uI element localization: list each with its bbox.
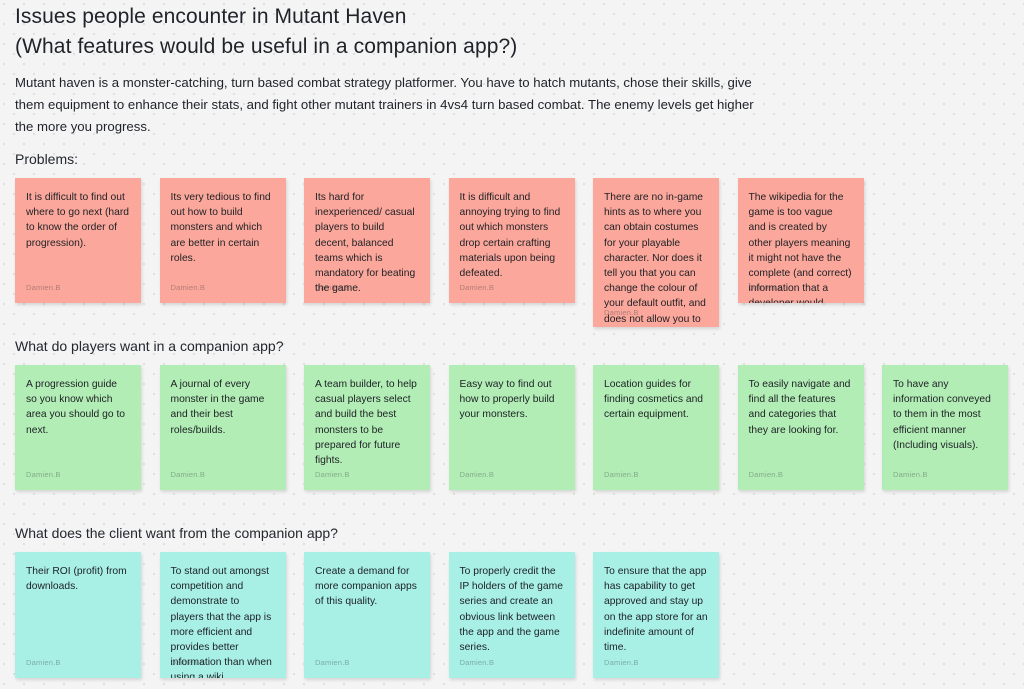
sticky-note-text: Its very tedious to find out how to buil…	[171, 190, 275, 266]
sticky-note[interactable]: It is difficult to find out where to go …	[15, 178, 141, 303]
sticky-note-text: To properly credit the IP holders of the…	[460, 564, 564, 655]
sticky-note-text: Location guides for finding cosmetics an…	[604, 377, 708, 423]
sticky-note[interactable]: A team builder, to help casual players s…	[304, 365, 430, 490]
sticky-note-author: Damien.B	[893, 470, 928, 480]
sticky-note-author: Damien.B	[604, 658, 639, 668]
sticky-note-text: It is difficult and annoying trying to f…	[460, 190, 564, 281]
sticky-note-text: Create a demand for more companion apps …	[315, 564, 419, 610]
sticky-note-author: Damien.B	[604, 308, 639, 318]
sticky-note[interactable]: Their ROI (profit) from downloads.Damien…	[15, 552, 141, 678]
sticky-note-author: Damien.B	[315, 658, 350, 668]
sticky-note-text: To ensure that the app has capability to…	[604, 564, 708, 655]
sticky-note[interactable]: Easy way to find out how to properly bui…	[449, 365, 575, 490]
sticky-note[interactable]: The wikipedia for the game is too vague …	[738, 178, 864, 303]
board-title: Issues people encounter in Mutant Haven …	[15, 2, 975, 62]
sticky-note[interactable]: To easily navigate and find all the feat…	[738, 365, 864, 490]
sticky-note-text: Their ROI (profit) from downloads.	[26, 564, 130, 594]
sticky-note[interactable]: To stand out amongst competition and dem…	[160, 552, 286, 678]
sticky-note-author: Damien.B	[315, 470, 350, 480]
section-heading-problems: Problems:	[15, 150, 78, 168]
sticky-note-text: It is difficult to find out where to go …	[26, 190, 130, 251]
sticky-note-author: Damien.B	[171, 658, 206, 668]
sticky-note[interactable]: It is difficult and annoying trying to f…	[449, 178, 575, 303]
board-title-line-1: Issues people encounter in Mutant Haven	[15, 2, 975, 32]
board-intro-paragraph: Mutant haven is a monster-catching, turn…	[15, 72, 757, 138]
sticky-note[interactable]: Create a demand for more companion apps …	[304, 552, 430, 678]
sticky-note-author: Damien.B	[26, 658, 61, 668]
sticky-note[interactable]: There are no in-game hints as to where y…	[593, 178, 719, 327]
board-title-line-2: (What features would be useful in a comp…	[15, 32, 975, 62]
sticky-note[interactable]: A progression guide so you know which ar…	[15, 365, 141, 490]
sticky-note[interactable]: To properly credit the IP holders of the…	[449, 552, 575, 678]
sticky-note[interactable]: Location guides for finding cosmetics an…	[593, 365, 719, 490]
sticky-note-text: A journal of every monster in the game a…	[171, 377, 275, 438]
section-heading-client: What does the client want from the compa…	[15, 524, 338, 542]
sticky-note-author: Damien.B	[315, 283, 350, 293]
sticky-note[interactable]: A journal of every monster in the game a…	[160, 365, 286, 490]
sticky-note-author: Damien.B	[171, 283, 206, 293]
sticky-note-author: Damien.B	[460, 470, 495, 480]
sticky-note-author: Damien.B	[171, 470, 206, 480]
sticky-note-text: There are no in-game hints as to where y…	[604, 190, 708, 327]
whiteboard-canvas[interactable]: Issues people encounter in Mutant Haven …	[0, 0, 1024, 689]
sticky-note-author: Damien.B	[460, 283, 495, 293]
sticky-note-text: Easy way to find out how to properly bui…	[460, 377, 564, 423]
sticky-note[interactable]: Its hard for inexperienced/ casual playe…	[304, 178, 430, 303]
sticky-note[interactable]: To ensure that the app has capability to…	[593, 552, 719, 678]
sticky-note-author: Damien.B	[604, 470, 639, 480]
sticky-note-author: Damien.B	[749, 283, 784, 293]
sticky-note-text: To easily navigate and find all the feat…	[749, 377, 853, 438]
sticky-note-text: To have any information conveyed to them…	[893, 377, 997, 453]
sticky-note-text: A progression guide so you know which ar…	[26, 377, 130, 438]
sticky-note-text: A team builder, to help casual players s…	[315, 377, 419, 468]
sticky-note-author: Damien.B	[26, 470, 61, 480]
sticky-note-author: Damien.B	[460, 658, 495, 668]
sticky-note-author: Damien.B	[749, 470, 784, 480]
sticky-note[interactable]: Its very tedious to find out how to buil…	[160, 178, 286, 303]
sticky-note-text: Its hard for inexperienced/ casual playe…	[315, 190, 419, 296]
section-heading-players: What do players want in a companion app?	[15, 337, 284, 355]
sticky-note-author: Damien.B	[26, 283, 61, 293]
sticky-note[interactable]: To have any information conveyed to them…	[882, 365, 1008, 490]
